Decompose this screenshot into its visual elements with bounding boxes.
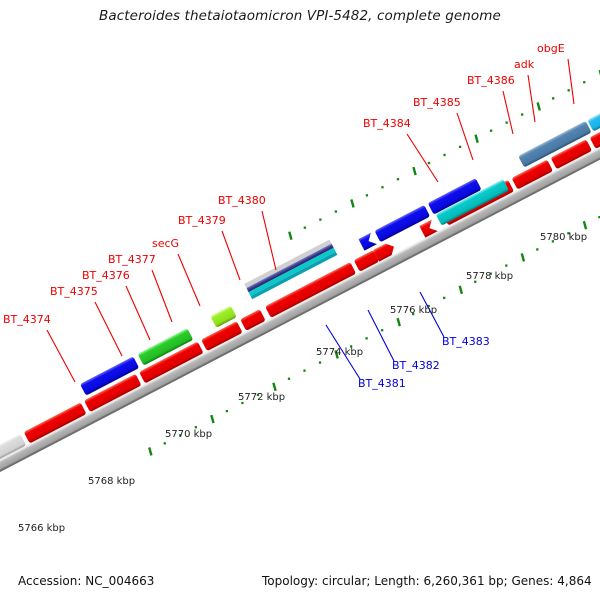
scale-tick-minor <box>505 121 507 123</box>
gene-bar[interactable] <box>374 205 430 242</box>
gene-label[interactable]: BT_4385 <box>413 96 461 109</box>
scale-tick-minor <box>304 227 306 229</box>
scale-tick-minor <box>319 218 321 220</box>
status-bar: Accession: NC_004663 Topology: circular;… <box>0 566 600 600</box>
gene-label-leader-line <box>457 113 473 160</box>
gene-label[interactable]: BT_4383 <box>442 335 490 348</box>
scale-label: 5778 kbp <box>466 271 513 282</box>
gene-label-leader-line <box>47 330 75 382</box>
scale-tick-minor <box>366 194 368 196</box>
scale-tick-major <box>149 447 151 455</box>
scale-tick-minor <box>164 442 166 444</box>
genome-meta-text: Topology: circular; Length: 6,260,361 bp… <box>262 574 592 588</box>
scale-tick-minor <box>505 264 507 266</box>
scale-tick-major <box>460 286 462 294</box>
scale-tick-minor <box>443 297 445 299</box>
scale-label: 5774 kbp <box>316 347 363 358</box>
scale-tick-minor <box>335 210 337 212</box>
scale-tick-minor <box>552 97 554 99</box>
gene-label[interactable]: obgE <box>537 42 565 55</box>
scale-tick-minor <box>428 162 430 164</box>
gene-label-leader-line <box>222 231 240 280</box>
gene-label-leader-line <box>503 91 513 134</box>
scale-label: 5780 kbp <box>540 232 587 243</box>
gene-label[interactable]: BT_4377 <box>108 253 156 266</box>
scale-tick-major <box>273 383 275 391</box>
gene-label[interactable]: secG <box>152 237 179 250</box>
scale-label: 5768 kbp <box>88 476 135 487</box>
gene-label[interactable]: BT_4379 <box>178 214 226 227</box>
gene-label-leader-line <box>152 270 172 322</box>
gene-label[interactable]: adk <box>514 58 535 71</box>
accession-text: Accession: NC_004663 <box>18 574 154 588</box>
gene-label[interactable]: BT_4376 <box>82 269 130 282</box>
scale-tick-major <box>211 415 213 423</box>
genome-map-canvas[interactable]: BT_4374BT_4375BT_4376BT_4377secGBT_4379B… <box>0 0 600 600</box>
scale-tick-major <box>538 102 540 110</box>
scale-tick-major <box>413 167 415 175</box>
scale-tick-minor <box>397 178 399 180</box>
gene-label-leader-line <box>95 302 122 356</box>
scale-tick-minor <box>443 154 445 156</box>
gene-label-leader-line <box>368 310 394 361</box>
scale-tick-minor <box>521 113 523 115</box>
scale-tick-major <box>522 253 524 261</box>
gene-label[interactable]: BT_4375 <box>50 285 98 298</box>
scale-tick-minor <box>288 378 290 380</box>
gene-label[interactable]: BT_4384 <box>363 117 411 130</box>
scale-tick-minor <box>381 329 383 331</box>
gene-label-leader-line <box>262 211 276 270</box>
scale-label: 5776 kbp <box>390 305 437 316</box>
scale-tick-minor <box>381 186 383 188</box>
scale-tick-minor <box>459 146 461 148</box>
gene-label[interactable]: BT_4374 <box>3 313 51 326</box>
scale-tick-minor <box>583 81 585 83</box>
gene-label[interactable]: BT_4382 <box>392 359 440 372</box>
gene-label[interactable]: BT_4381 <box>358 377 406 390</box>
gene-label-leader-line <box>407 134 438 182</box>
scale-tick-minor <box>568 89 570 91</box>
gene-label[interactable]: BT_4380 <box>218 194 266 207</box>
arrow-icon[interactable] <box>358 233 376 251</box>
gene-label-leader-line <box>568 59 574 104</box>
scale-tick-minor <box>536 248 538 250</box>
gene-label-leader-line <box>528 75 535 122</box>
scale-label: 5772 kbp <box>238 392 285 403</box>
scale-tick-major <box>398 318 400 326</box>
gene-label-leader-line <box>126 286 150 340</box>
scale-tick-major <box>289 232 291 240</box>
scale-tick-major <box>351 199 353 207</box>
scale-tick-minor <box>303 370 305 372</box>
gene-bar[interactable] <box>587 104 600 131</box>
scale-tick-major <box>584 221 586 229</box>
scale-tick-minor <box>365 337 367 339</box>
scale-tick-minor <box>319 361 321 363</box>
genome-viewer: Bacteroides thetaiotaomicron VPI-5482, c… <box>0 0 600 600</box>
scale-tick-minor <box>226 410 228 412</box>
scale-tick-minor <box>490 130 492 132</box>
gene-label-leader-line <box>178 254 200 306</box>
scale-label: 5766 kbp <box>18 523 65 534</box>
gene-label[interactable]: BT_4386 <box>467 74 515 87</box>
scale-label: 5770 kbp <box>165 429 212 440</box>
scale-tick-major <box>476 135 478 143</box>
genome-backbone[interactable] <box>0 130 600 479</box>
